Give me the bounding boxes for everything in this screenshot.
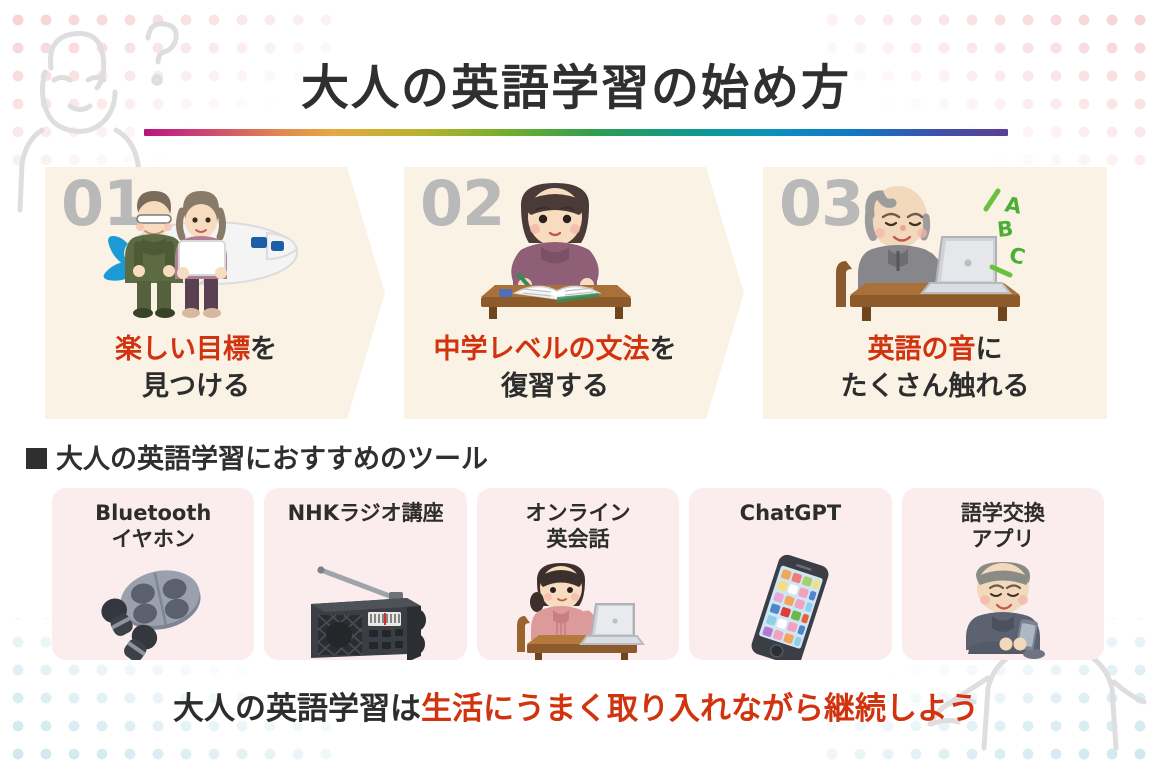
illustration-couple-airplane — [45, 175, 347, 325]
tool-label-5-line1: 語学交換 — [961, 501, 1045, 525]
step-card-03: 03 — [763, 167, 1107, 419]
tool-label-3-line2: 英会話 — [547, 527, 610, 551]
svg-text:C: C — [1007, 243, 1028, 270]
tool-label-2-line1: NHKラジオ講座 — [288, 501, 444, 525]
illustration-woman-studying — [404, 175, 706, 325]
tool-label-1-line2: イヤホン — [112, 527, 195, 551]
step-card-02: 02 — [404, 167, 744, 419]
illustration-man-laptop-abc: A B C — [763, 175, 1107, 325]
step-label-02-line2: 復習する — [501, 371, 609, 402]
tools-heading-text: 大人の英語学習におすすめのツール — [56, 444, 488, 475]
infographic-canvas: 大人の英語学習の始め方 01 — [0, 0, 1152, 768]
step-label-03: 英語の音に たくさん触れる — [763, 332, 1107, 405]
tool-card-nhk-radio-course[interactable]: NHKラジオ講座 — [264, 488, 466, 660]
step-label-01-highlight: 楽しい目標 — [115, 334, 250, 365]
tool-label-2: NHKラジオ講座 — [264, 500, 466, 526]
step-label-03-line2: たくさん触れる — [841, 371, 1030, 402]
tool-label-3: オンライン 英会話 — [477, 500, 679, 553]
tool-label-5-line2: アプリ — [971, 527, 1034, 551]
tool-label-5: 語学交換 アプリ — [902, 500, 1104, 553]
icon-smartphone-apps — [689, 554, 891, 658]
tools-section-heading: 大人の英語学習におすすめのツール — [26, 437, 488, 476]
footer-highlight: 生活にうまく取り入れながら継続しよう — [421, 691, 979, 727]
icon-woman-with-laptop — [477, 554, 679, 658]
tool-label-1-line1: Bluetooth — [95, 501, 211, 525]
step-label-02: 中学レベルの文法を 復習する — [404, 332, 706, 405]
footer-message: 大人の英語学習は生活にうまく取り入れながら継続しよう — [0, 683, 1152, 728]
footer-prefix: 大人の英語学習は — [173, 691, 421, 727]
step-label-02-tail: を — [650, 334, 677, 365]
tool-card-language-exchange-app[interactable]: 語学交換 アプリ — [902, 488, 1104, 660]
icon-radio — [264, 554, 466, 658]
tool-card-chatgpt[interactable]: ChatGPT — [689, 488, 891, 660]
icon-elderly-man-with-smartphone — [902, 554, 1104, 658]
tool-label-3-line1: オンライン — [526, 501, 631, 525]
svg-text:A: A — [1003, 192, 1024, 219]
tool-label-4: ChatGPT — [689, 500, 891, 526]
tool-label-4-line1: ChatGPT — [740, 501, 842, 525]
tools-list: Bluetooth イヤホン — [52, 488, 1104, 660]
tool-card-bluetooth-earphones[interactable]: Bluetooth イヤホン — [52, 488, 254, 660]
step-label-03-highlight: 英語の音 — [868, 334, 976, 365]
title-gradient-rule — [144, 129, 1008, 136]
bullet-square-icon — [26, 448, 47, 469]
step-label-02-highlight: 中学レベルの文法 — [434, 334, 650, 365]
step-card-01: 01 — [45, 167, 385, 419]
page-title: 大人の英語学習の始め方 — [0, 48, 1152, 118]
step-label-01-tail: を — [250, 334, 277, 365]
step-label-01-line2: 見つける — [142, 371, 250, 402]
tool-label-1: Bluetooth イヤホン — [52, 500, 254, 553]
step-label-01: 楽しい目標を 見つける — [45, 332, 347, 405]
icon-wireless-earbuds — [52, 554, 254, 658]
svg-text:B: B — [996, 216, 1014, 242]
step-label-03-tail: に — [976, 334, 1003, 365]
tool-card-online-english-conversation[interactable]: オンライン 英会話 — [477, 488, 679, 660]
